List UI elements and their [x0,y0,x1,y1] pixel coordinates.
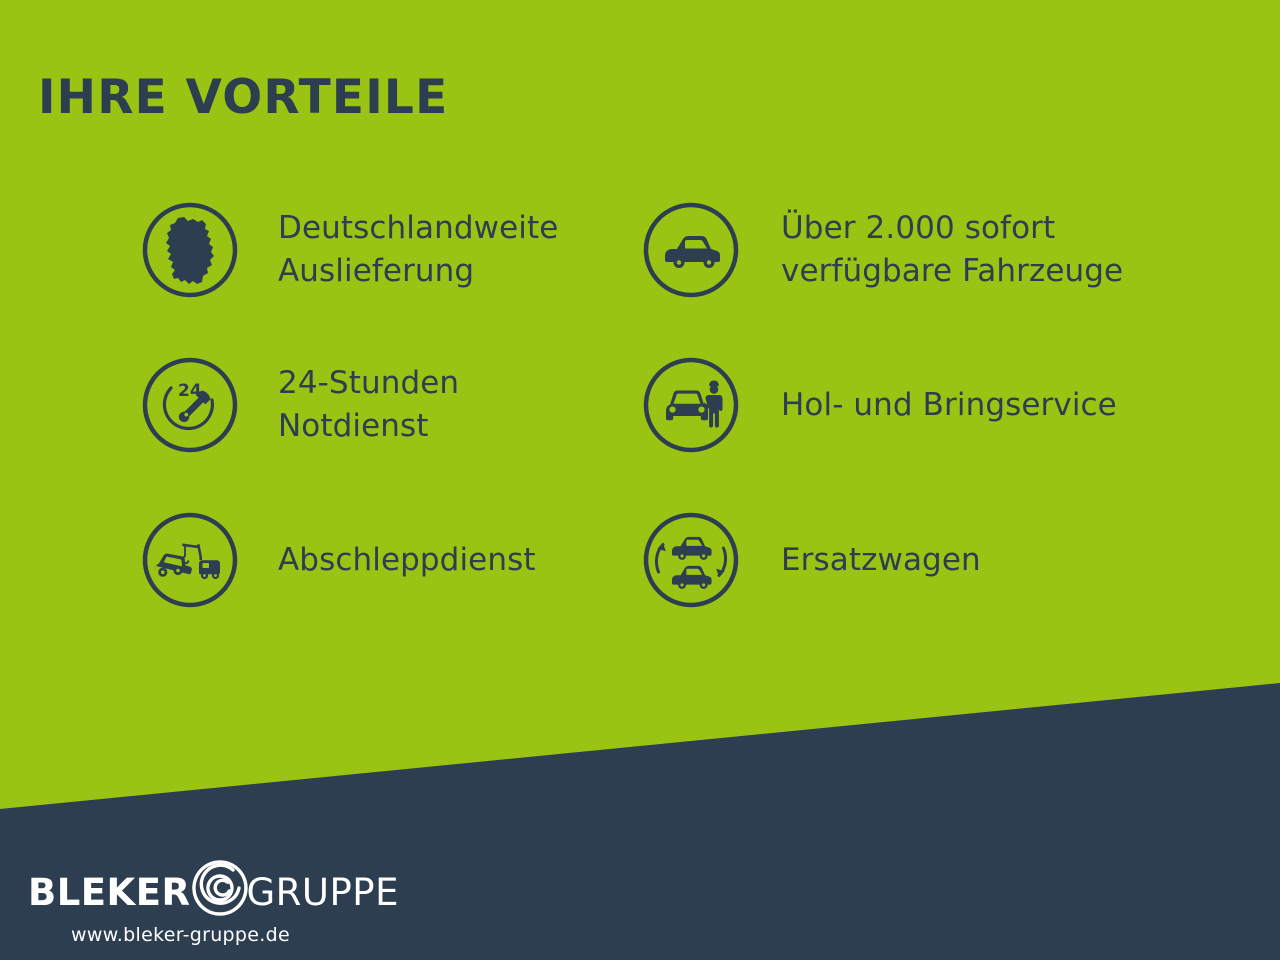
benefit-label: 24-Stunden Notdienst [278,362,459,448]
benefit-label: Über 2.000 sofort verfügbare Fahrzeuge [781,207,1123,293]
benefit-label: Abschleppdienst [278,539,536,582]
benefit-label: Ersatzwagen [781,539,981,582]
benefit-item-deutschlandweite-auslieferung: Deutschlandweite Auslieferung [140,200,558,300]
logo-secondary-text: GRUPPE [247,874,399,911]
green-background-panel [0,0,1280,960]
24-hour-wrench-icon: 24 [140,355,240,455]
page-title: IHRE VORTEILE [38,74,448,121]
tow-truck-icon [140,510,240,610]
footer-logo: BLEKER GRUPPE www.bleker-gruppe.de [28,866,368,952]
benefit-label: Deutschlandweite Auslieferung [278,207,558,293]
slide-canvas: IHRE VORTEILE Deutschlandweite Ausliefer… [0,0,1280,960]
benefit-item-ersatzwagen: Ersatzwagen [641,510,981,610]
benefit-item-verfuegbare-fahrzeuge: Über 2.000 sofort verfügbare Fahrzeuge [641,200,1123,300]
spiral-icon [187,855,253,921]
germany-map-icon [140,200,240,300]
car-with-person-icon [641,355,741,455]
benefit-item-24-stunden-notdienst: 24 24-Stunden Notdienst [140,355,459,455]
logo-primary-text: BLEKER [28,874,191,911]
benefit-label: Hol- und Bringservice [781,384,1117,427]
benefit-item-hol-und-bringservice: Hol- und Bringservice [641,355,1117,455]
car-side-icon [641,200,741,300]
two-cars-exchange-icon [641,510,741,610]
benefit-item-abschleppdienst: Abschleppdienst [140,510,536,610]
logo-url-text: www.bleker-gruppe.de [28,924,333,946]
logo-wordmark-row: BLEKER GRUPPE [28,866,368,918]
